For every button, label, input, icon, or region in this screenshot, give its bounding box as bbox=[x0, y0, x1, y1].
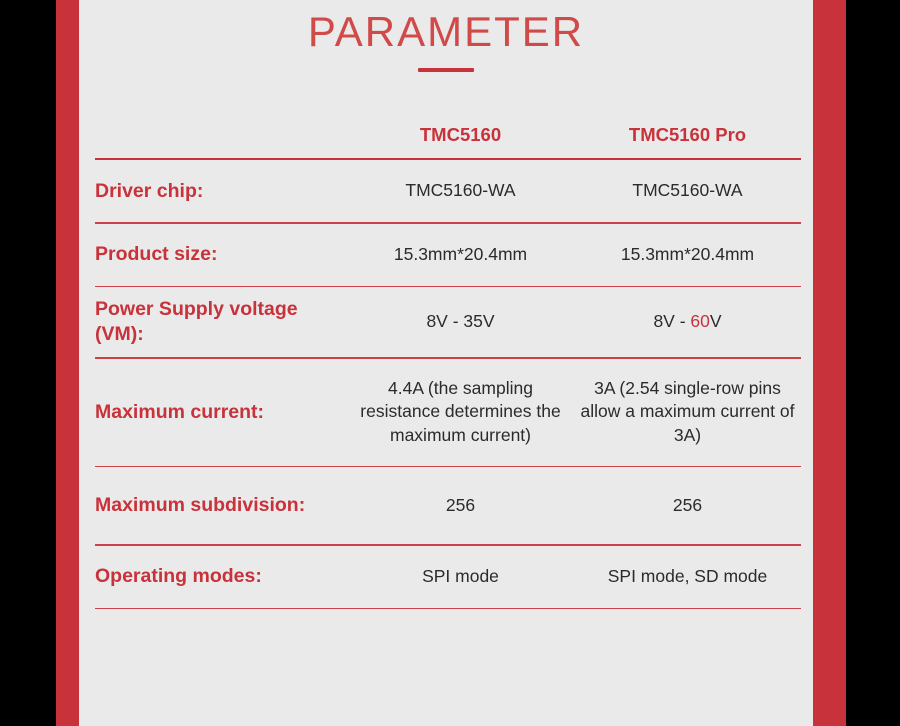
page-title: PARAMETER bbox=[79, 8, 813, 56]
row-label-maximum-current: Maximum current: bbox=[95, 400, 347, 425]
table-row: Maximum current: 4.4A (the sampling resi… bbox=[95, 359, 801, 466]
row-value-voltage-tmc5160-pro: 8V - 60V bbox=[574, 310, 801, 333]
table-row: Operating modes: SPI mode SPI mode, SD m… bbox=[95, 546, 801, 608]
row-value-driver-chip-tmc5160-pro: TMC5160-WA bbox=[574, 179, 801, 202]
table-row: Power Supply voltage (VM): 8V - 35V 8V -… bbox=[95, 287, 801, 357]
row-value-maximum-current-tmc5160-pro: 3A (2.54 single-row pins allow a maximum… bbox=[574, 377, 801, 447]
row-divider bbox=[95, 357, 801, 359]
row-value-driver-chip-tmc5160: TMC5160-WA bbox=[347, 179, 574, 202]
row-label-driver-chip: Driver chip: bbox=[95, 179, 347, 204]
header-cell-tmc5160-pro: TMC5160 Pro bbox=[574, 123, 801, 148]
parameter-panel: PARAMETER TMC5160 TMC5160 Pro Driver chi… bbox=[79, 0, 813, 726]
divider-table-bottom bbox=[95, 608, 801, 610]
table-header-row: TMC5160 TMC5160 Pro bbox=[95, 112, 801, 158]
voltage-pro-suffix: V bbox=[710, 311, 722, 331]
specification-table: TMC5160 TMC5160 Pro Driver chip: TMC5160… bbox=[95, 112, 801, 609]
row-value-product-size-tmc5160-pro: 15.3mm*20.4mm bbox=[574, 243, 801, 266]
voltage-pro-highlight: 60 bbox=[690, 311, 709, 331]
header-cell-tmc5160: TMC5160 bbox=[347, 123, 574, 148]
row-divider bbox=[95, 544, 801, 546]
table-row: Maximum subdivision: 256 256 bbox=[95, 467, 801, 544]
row-divider bbox=[95, 466, 801, 468]
screenshot-root: PARAMETER TMC5160 TMC5160 Pro Driver chi… bbox=[0, 0, 900, 726]
decorative-red-bar-right bbox=[813, 0, 846, 726]
row-label-power-supply-voltage: Power Supply voltage (VM): bbox=[95, 297, 347, 347]
row-value-maximum-current-tmc5160: 4.4A (the sampling resistance determines… bbox=[347, 377, 574, 447]
row-value-maximum-subdivision-tmc5160: 256 bbox=[347, 494, 574, 517]
row-value-product-size-tmc5160: 15.3mm*20.4mm bbox=[347, 243, 574, 266]
decorative-red-bar-left bbox=[56, 0, 79, 726]
row-label-maximum-subdivision: Maximum subdivision: bbox=[95, 493, 347, 518]
voltage-pro-prefix: 8V - bbox=[653, 311, 690, 331]
row-label-product-size: Product size: bbox=[95, 242, 347, 267]
title-block: PARAMETER bbox=[79, 8, 813, 72]
row-divider bbox=[95, 222, 801, 224]
row-divider bbox=[95, 286, 801, 288]
row-value-operating-modes-tmc5160-pro: SPI mode, SD mode bbox=[574, 565, 801, 588]
row-value-operating-modes-tmc5160: SPI mode bbox=[347, 565, 574, 588]
table-row: Driver chip: TMC5160-WA TMC5160-WA bbox=[95, 160, 801, 222]
title-underline bbox=[418, 68, 474, 72]
row-label-operating-modes: Operating modes: bbox=[95, 564, 347, 589]
row-value-maximum-subdivision-tmc5160-pro: 256 bbox=[574, 494, 801, 517]
table-row: Product size: 15.3mm*20.4mm 15.3mm*20.4m… bbox=[95, 224, 801, 286]
row-value-voltage-tmc5160: 8V - 35V bbox=[347, 310, 574, 333]
